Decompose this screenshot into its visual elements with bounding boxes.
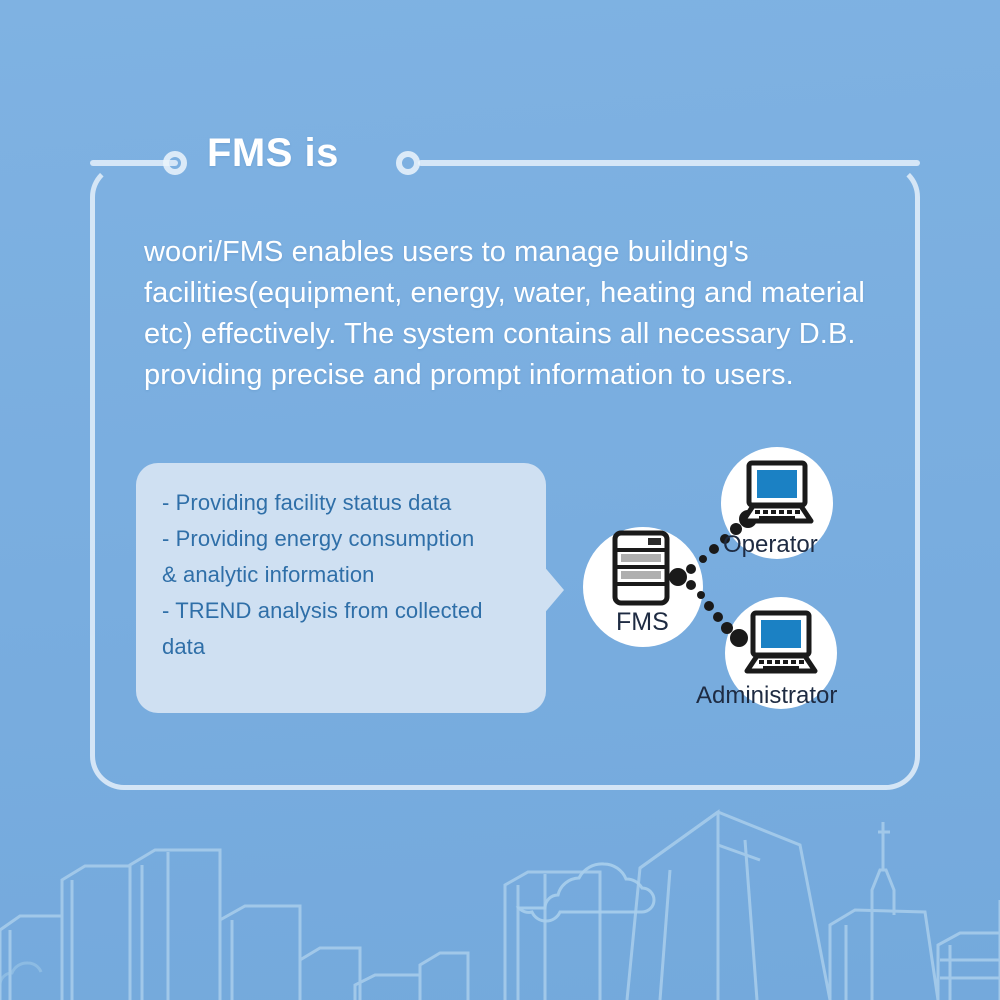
frame-top-right-segment: [418, 160, 920, 166]
description-paragraph: woori/FMS enables users to manage buildi…: [144, 232, 874, 396]
architecture-diagram: FMS Operator Administrator: [575, 445, 875, 720]
laptop-icon: [747, 613, 815, 671]
poster-canvas: FMS is woori/FMS enables users to manage…: [0, 0, 1000, 1000]
list-item: - TREND analysis from collected data: [162, 593, 534, 665]
ring-marker-left-icon: [163, 151, 187, 175]
administrator-node-label: Administrator: [696, 684, 837, 708]
cloud-outline: [519, 864, 654, 921]
features-callout: - Providing facility status data - Provi…: [136, 463, 561, 713]
list-item: - Providing facility status data: [162, 485, 534, 521]
cloud-outline-bottom-left: [0, 963, 41, 985]
operator-node-label: Operator: [723, 533, 818, 557]
page-title: FMS is: [207, 133, 339, 173]
callout-list: - Providing facility status data - Provi…: [162, 485, 534, 665]
callout-arrow-icon: [542, 564, 564, 616]
laptop-icon: [743, 463, 811, 521]
ring-marker-right-icon: [396, 151, 420, 175]
diagram-graphics: [575, 445, 875, 720]
list-item: - Providing energy consumption & analyti…: [162, 521, 534, 593]
server-icon: [615, 533, 667, 603]
connector-fms-administrator: [686, 580, 748, 647]
city-skyline-outline: [0, 812, 1000, 1000]
fms-node-label: FMS: [616, 610, 669, 635]
